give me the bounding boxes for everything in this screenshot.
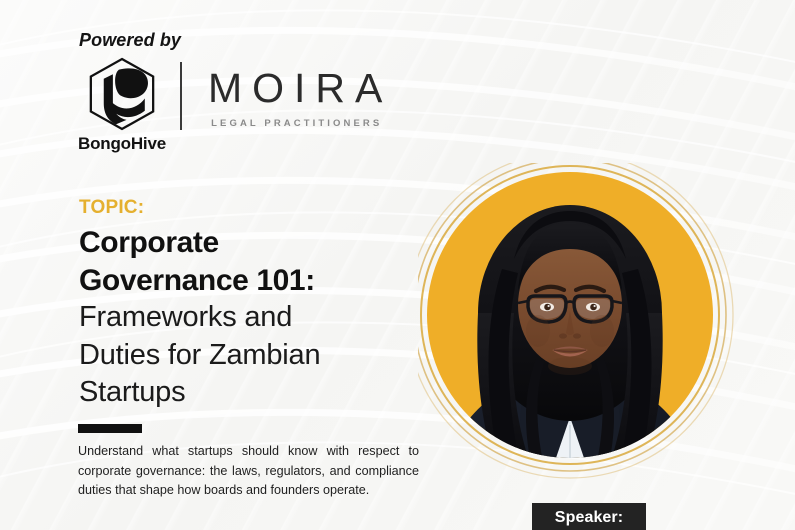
moira-tagline: LEGAL PRACTITIONERS	[208, 118, 382, 129]
topic-label: TOPIC:	[79, 197, 144, 219]
speaker-portrait	[418, 163, 758, 503]
bongohive-wordmark: BongoHive	[78, 134, 166, 154]
title-line-2: Governance 101:	[79, 262, 439, 300]
moira-logo: MOIRA LEGAL PRACTITIONERS	[198, 68, 392, 129]
speaker-badge: Speaker:	[532, 503, 646, 530]
title-line-5: Startups	[79, 374, 439, 411]
speaker-badge-label: Speaker:	[555, 509, 623, 527]
title-line-4: Duties for Zambian	[79, 337, 439, 374]
content-column: Powered by BongoHive MOIRA LEGAL PRACTIT…	[0, 0, 455, 530]
bongohive-hex-logo	[83, 56, 161, 132]
title-line-3: Frameworks and	[79, 299, 439, 336]
title-line-1: Corporate	[79, 224, 439, 262]
logo-row: BongoHive MOIRA LEGAL PRACTITIONERS	[78, 56, 392, 154]
page-title: Corporate Governance 101: Frameworks and…	[79, 224, 439, 412]
title-underline-rule	[78, 424, 142, 433]
moira-wordmark: MOIRA	[198, 68, 392, 109]
vertical-divider	[180, 62, 182, 130]
description-text: Understand what startups should know wit…	[78, 442, 419, 501]
bongohive-logo: BongoHive	[78, 56, 166, 154]
powered-by-label: Powered by	[79, 30, 181, 51]
